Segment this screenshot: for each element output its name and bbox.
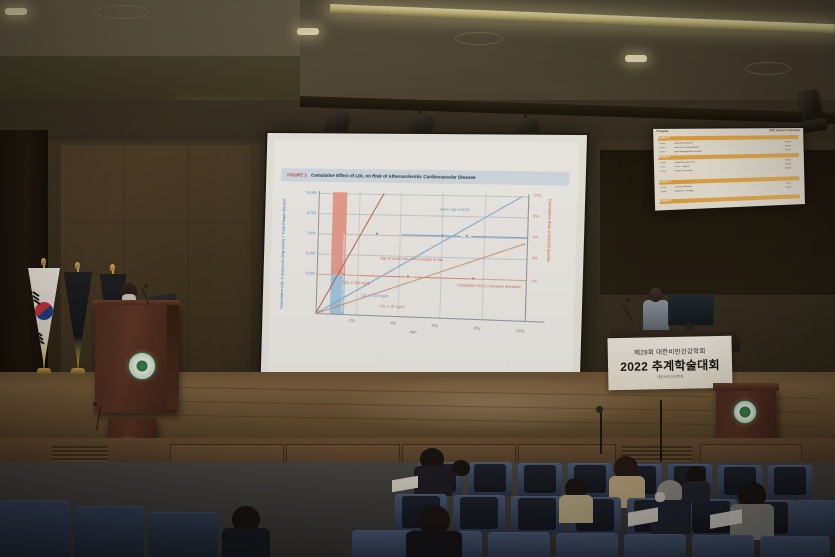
banner-line-1: 제28회 대한비만건강학회 bbox=[634, 345, 706, 356]
series-label-ldl-80: LDL-C 80 mg/dl bbox=[379, 304, 405, 309]
mic-stand-pole bbox=[600, 410, 602, 454]
seat[interactable] bbox=[488, 532, 550, 557]
row-room: Hall A bbox=[785, 141, 799, 143]
xtick-60y: 60y bbox=[432, 324, 438, 328]
seat-left-block[interactable] bbox=[0, 500, 70, 557]
series-label-ldl-200: LDL-C 200 mg/dl bbox=[343, 281, 370, 286]
floor-microphone-head bbox=[93, 402, 97, 406]
program-band-3-label: Session 3 bbox=[658, 180, 671, 184]
speaker-stand-pole bbox=[660, 400, 662, 462]
threshold-band-angina-label: Threshold for Stable Angina bbox=[340, 270, 345, 312]
seat-back bbox=[524, 465, 556, 493]
seat[interactable] bbox=[760, 536, 830, 557]
xtick-20y: 20y bbox=[349, 318, 355, 322]
xtick-80y: 80y bbox=[474, 326, 480, 330]
banner-line-3: 대한비만건강학회 bbox=[657, 375, 684, 381]
slide-surface: FIGURE 2 Cumulative Effect of LDL on Ris… bbox=[268, 140, 579, 391]
annotation-age-risk-rise: Age at which risk of ACS begins to rise bbox=[380, 256, 443, 262]
y-axis-right bbox=[525, 194, 530, 322]
y-axis-left bbox=[316, 191, 320, 314]
right-podium-emblem bbox=[733, 400, 757, 424]
seat-left-block[interactable] bbox=[74, 506, 144, 557]
society-emblem bbox=[128, 352, 156, 380]
ceiling-vent-2 bbox=[455, 32, 503, 45]
ytick-right-1: 8% bbox=[533, 214, 539, 218]
podium-side-panel bbox=[167, 305, 179, 409]
person-body bbox=[682, 481, 710, 503]
ceiling-vent-1 bbox=[95, 5, 149, 19]
downlight-3 bbox=[5, 8, 27, 15]
row-time: 13:30 bbox=[660, 190, 671, 193]
row-room: Hall A bbox=[785, 159, 799, 161]
ytick-left-0: 10,000 bbox=[293, 190, 317, 194]
xtick-40y: 40y bbox=[390, 321, 396, 325]
figure-tag: FIGURE 2 bbox=[287, 172, 307, 177]
ceiling-vent-3 bbox=[745, 62, 791, 75]
person-body bbox=[414, 466, 452, 496]
gridline-8750 bbox=[318, 213, 527, 218]
person-body bbox=[559, 495, 593, 523]
row-room: Hall A bbox=[785, 167, 799, 169]
seat-left-block[interactable] bbox=[148, 512, 218, 557]
row-room: Hall A bbox=[785, 145, 799, 147]
auditorium-scene: FIGURE 2 Cumulative Effect of LDL on Ris… bbox=[0, 0, 835, 557]
seated-moderator bbox=[643, 288, 669, 330]
ytick-right-2: 6% bbox=[532, 235, 538, 239]
projection-screen[interactable]: FIGURE 2 Cumulative Effect of LDL on Ris… bbox=[258, 131, 589, 401]
row-time: 10:30 bbox=[660, 161, 671, 163]
side-program-screen[interactable]: Program 2022 Autumn Conference Session 1… bbox=[652, 127, 806, 212]
row-room: Hall B bbox=[786, 186, 800, 188]
row-time: 09:00 bbox=[659, 142, 670, 144]
seat[interactable] bbox=[556, 533, 618, 557]
row-time: 11:30 bbox=[660, 170, 671, 172]
desk-microphone-head bbox=[626, 298, 630, 302]
right-podium-top bbox=[713, 383, 779, 391]
taeguk-circle bbox=[35, 302, 53, 320]
annotation-arrow-red-left bbox=[359, 275, 404, 277]
ytick-left-3: 6,250 bbox=[291, 251, 315, 256]
program-header-left: Program bbox=[656, 130, 668, 134]
seat-back bbox=[474, 464, 506, 492]
ytick-left-2: 7,500 bbox=[292, 231, 316, 236]
seat[interactable] bbox=[352, 530, 414, 557]
downlight-2 bbox=[625, 55, 647, 62]
seat[interactable] bbox=[624, 534, 686, 557]
seat-back bbox=[518, 498, 556, 530]
ytick-right-0: 10% bbox=[534, 193, 542, 197]
slide-title-bar: FIGURE 2 Cumulative Effect of LDL on Ris… bbox=[281, 168, 569, 185]
row-room: Hall A bbox=[785, 163, 799, 165]
person-head bbox=[452, 460, 470, 476]
annotation-mean-age-acs: Mean age of ACS bbox=[440, 207, 469, 212]
seat[interactable] bbox=[795, 500, 835, 538]
y-axis-right-label: Cumulative Risk of ASCVD Events bbox=[546, 199, 552, 262]
flag-base-1 bbox=[37, 368, 51, 375]
row-time: 09:50 bbox=[659, 151, 670, 153]
gridline-40y bbox=[397, 192, 402, 316]
figure-title: Cumulative Effect of LDL on Risk of Athe… bbox=[311, 173, 476, 180]
ceiling-soffit-lower bbox=[0, 56, 300, 102]
row-time: 11:00 bbox=[660, 166, 671, 168]
ytick-left-4: 5,000 bbox=[290, 271, 314, 276]
program-band-4-label: Session 4 bbox=[658, 199, 671, 203]
mic-stand-head bbox=[596, 406, 603, 413]
seat-back bbox=[774, 467, 806, 495]
xtick-100y: 100y bbox=[516, 329, 525, 334]
program-band-4 bbox=[659, 194, 800, 204]
ytick-left-1: 8,750 bbox=[292, 211, 316, 216]
chart-plot-area: 10,000 8,750 7,500 6,250 5,000 10% 8% 6%… bbox=[315, 191, 548, 336]
gridline-10000 bbox=[319, 193, 528, 198]
ytick-right-5: 1% bbox=[531, 279, 537, 283]
y-axis-left-label: Cumulative LDL-C Exposure (mg-Years) = T… bbox=[279, 199, 286, 309]
person-body bbox=[222, 528, 270, 557]
moderator-body bbox=[643, 300, 669, 330]
row-topic: Lipid Management Update bbox=[674, 149, 782, 153]
banner-line-2: 2022 추계학술대회 bbox=[620, 356, 720, 375]
moderator-head bbox=[649, 288, 662, 302]
person-body bbox=[406, 531, 462, 557]
row-time: 13:00 bbox=[660, 186, 671, 189]
row-room: Hall A bbox=[785, 149, 799, 151]
row-room: Hall B bbox=[786, 182, 800, 184]
program-header: Program 2022 Autumn Conference bbox=[656, 129, 800, 134]
gridline-60y bbox=[439, 193, 444, 318]
microphone-head bbox=[144, 284, 148, 288]
x-axis-label: Age bbox=[409, 329, 416, 334]
program-band-1-label: Session 1 bbox=[657, 136, 670, 139]
annotation-exposure-threshold: Cumulative LDL-C exposure threshold bbox=[457, 283, 521, 289]
program-band-2-label: Session 2 bbox=[657, 156, 670, 159]
flag-base-2 bbox=[71, 368, 85, 375]
stage-monitor[interactable] bbox=[668, 294, 714, 326]
ytick-right-3: 4% bbox=[532, 256, 538, 260]
ceiling-soffit-upper bbox=[0, 0, 300, 60]
program-header-right: 2022 Autumn Conference bbox=[769, 129, 800, 133]
seat[interactable] bbox=[692, 535, 754, 557]
row-time: 09:20 bbox=[659, 146, 670, 148]
downlight-1 bbox=[297, 28, 319, 35]
seat-back bbox=[460, 497, 498, 529]
face-mask bbox=[655, 492, 665, 502]
